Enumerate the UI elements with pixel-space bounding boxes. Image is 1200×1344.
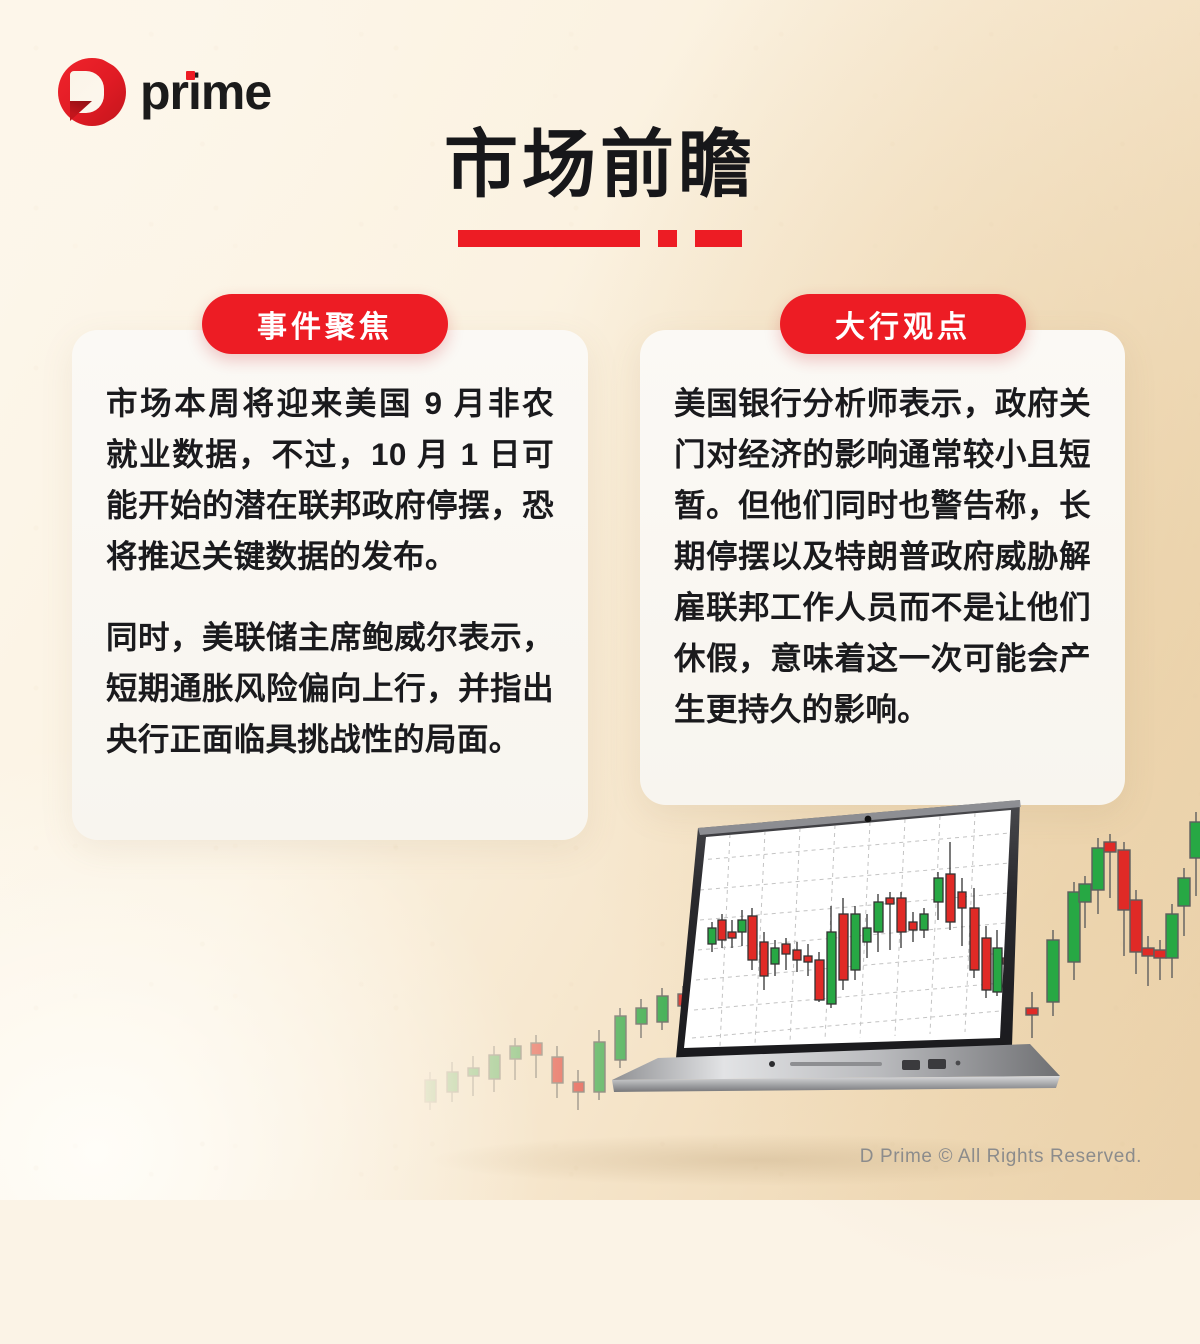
laptop-webcam-icon: [865, 816, 872, 823]
logo-wordmark-text: prime: [140, 64, 271, 120]
laptop-port-1: [902, 1060, 920, 1070]
badge-bank-view: 大行观点: [780, 294, 1026, 354]
logo-i-dot-icon: [186, 71, 195, 80]
page-header: 市场前瞻: [0, 128, 1200, 247]
content-cards: 事件聚焦 市场本周将迎来美国 9 月非农就业数据，不过，10 月 1 日可能开始…: [0, 330, 1200, 850]
card-bank-view-body: 美国银行分析师表示，政府关门对经济的影响通常较小且短暂。但他们同时也警告称，长期…: [640, 330, 1125, 763]
brand-logo[interactable]: prime: [58, 58, 271, 126]
laptop-indicator-icon: [769, 1061, 775, 1067]
badge-bank-view-label: 大行观点: [835, 302, 971, 346]
divider-segment-dot: [658, 230, 677, 247]
laptop-port-2: [928, 1059, 946, 1069]
badge-event-focus-label: 事件聚焦: [257, 302, 393, 346]
card-bank-view: 大行观点 美国银行分析师表示，政府关门对经济的影响通常较小且短暂。但他们同时也警…: [640, 330, 1125, 805]
divider-segment-mid: [695, 230, 742, 247]
laptop-candlestick-illustration: [0, 780, 1200, 1200]
badge-event-focus: 事件聚焦: [202, 294, 448, 354]
laptop-trackpad-slot: [790, 1062, 882, 1066]
card-bank-view-paragraph-1: 美国银行分析师表示，政府关门对经济的影响通常较小且短暂。但他们同时也警告称，长期…: [674, 378, 1091, 735]
laptop-dot-icon: [956, 1061, 961, 1066]
card-event-focus-body: 市场本周将迎来美国 9 月非农就业数据，不过，10 月 1 日可能开始的潜在联邦…: [72, 330, 588, 793]
right-trend-candles: [1026, 812, 1200, 1038]
card-event-focus: 事件聚焦 市场本周将迎来美国 9 月非农就业数据，不过，10 月 1 日可能开始…: [72, 330, 588, 840]
footer-copyright: D Prime © All Rights Reserved.: [860, 1146, 1142, 1168]
page-title: 市场前瞻: [0, 128, 1200, 202]
card-event-focus-paragraph-1: 市场本周将迎来美国 9 月非农就业数据，不过，10 月 1 日可能开始的潜在联邦…: [106, 378, 554, 582]
title-divider: [0, 230, 1200, 247]
laptop-icon: [612, 800, 1060, 1092]
card-event-focus-paragraph-2: 同时，美联储主席鲍威尔表示，短期通胀风险偏向上行，并指出央行正面临具挑战性的局面…: [106, 612, 554, 765]
d-prime-logo-icon: [58, 58, 126, 126]
logo-wordmark: prime: [140, 63, 271, 121]
divider-segment-long: [458, 230, 640, 247]
